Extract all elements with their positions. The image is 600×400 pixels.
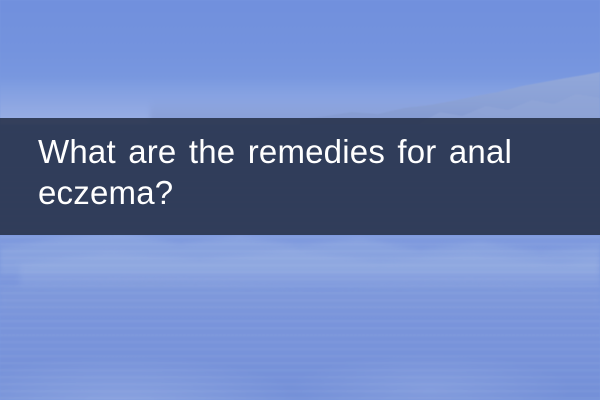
mountain-ridge <box>300 72 600 124</box>
headline-text: What are the remedies for anal eczema? <box>38 131 576 213</box>
screenshot-stage: What are the remedies for anal eczema? <box>0 0 600 400</box>
headline-band: What are the remedies for anal eczema? <box>0 118 600 235</box>
